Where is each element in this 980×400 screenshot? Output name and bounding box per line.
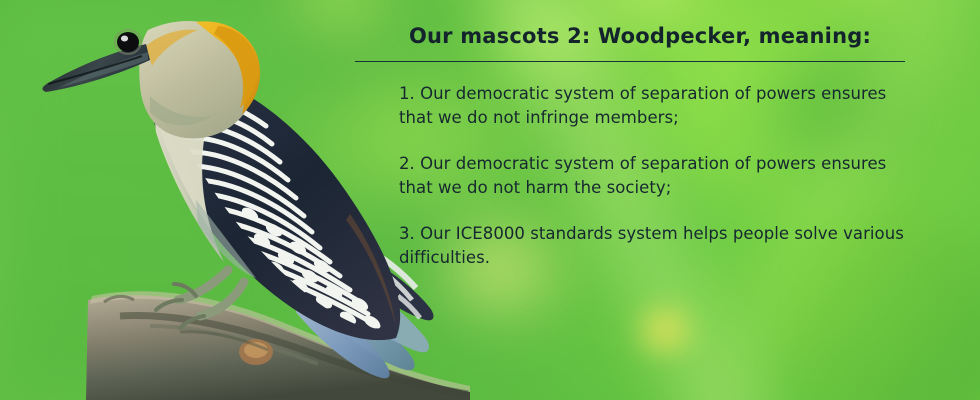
list-item: 1. Our democratic system of separation o… bbox=[399, 82, 925, 130]
background-yellow-highlight bbox=[620, 300, 710, 360]
mascot-meaning-list: 1. Our democratic system of separation o… bbox=[399, 82, 925, 270]
list-item: 2. Our democratic system of separation o… bbox=[399, 152, 925, 200]
title-divider bbox=[355, 61, 905, 62]
mascot-banner: Our mascots 2: Woodpecker, meaning: 1. O… bbox=[0, 0, 980, 400]
page-title: Our mascots 2: Woodpecker, meaning: bbox=[355, 22, 925, 50]
banner-text-content: Our mascots 2: Woodpecker, meaning: 1. O… bbox=[355, 22, 925, 270]
bird-head bbox=[43, 21, 261, 138]
list-item: 3. Our ICE8000 standards system helps pe… bbox=[399, 222, 925, 270]
